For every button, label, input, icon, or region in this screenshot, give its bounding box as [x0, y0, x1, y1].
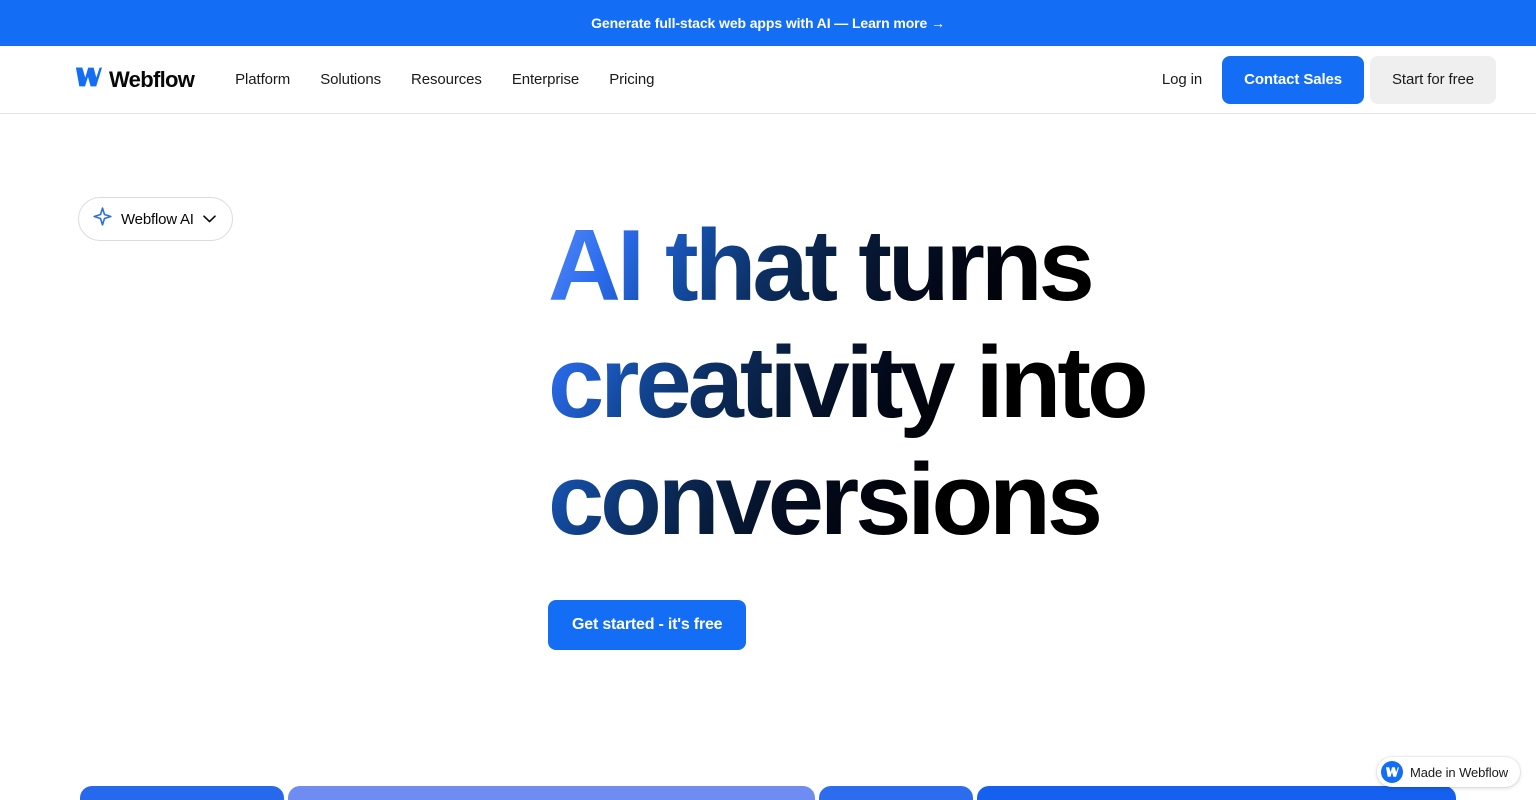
hero-headline-line-3: conversions: [548, 442, 1288, 559]
webflow-w-logo-icon: [76, 67, 102, 92]
nav-item-enterprise[interactable]: Enterprise: [497, 63, 594, 96]
contact-sales-button[interactable]: Contact Sales: [1222, 56, 1364, 104]
announcement-banner[interactable]: Generate full-stack web apps with AI — L…: [0, 0, 1536, 46]
header-actions: Log in Contact Sales Start for free: [1142, 56, 1496, 104]
webflow-circle-icon: [1381, 761, 1403, 783]
hero-headline-line-1: AI that turns: [548, 208, 1288, 325]
nav-link-pricing[interactable]: Pricing: [594, 63, 669, 96]
hero-headline: AI that turns creativity into conversion…: [548, 208, 1288, 559]
hero-section: Webflow AI AI that turns creativity into…: [0, 114, 1536, 800]
feature-card[interactable]: [977, 786, 1456, 800]
chevron-down-icon: [203, 210, 216, 228]
made-in-webflow-badge[interactable]: Made in Webflow: [1377, 757, 1520, 787]
webflow-ai-dropdown[interactable]: Webflow AI: [78, 197, 233, 241]
get-started-button[interactable]: Get started - it's free: [548, 600, 746, 650]
webflow-ai-label: Webflow AI: [121, 211, 194, 228]
nav-item-resources[interactable]: Resources: [396, 63, 497, 96]
hero-copy: AI that turns creativity into conversion…: [548, 208, 1288, 559]
nav-link-platform[interactable]: Platform: [220, 63, 305, 96]
hero-headline-line-2: creativity into: [548, 325, 1288, 442]
site-header: Webflow Platform Solutions Resources Ent…: [0, 46, 1536, 114]
sparkle-icon: [93, 207, 112, 231]
nav-item-pricing[interactable]: Pricing: [594, 63, 669, 96]
announcement-banner-text: Generate full-stack web apps with AI — L…: [591, 15, 945, 31]
feature-card[interactable]: [80, 786, 284, 800]
feature-card[interactable]: [819, 786, 973, 800]
made-in-webflow-label: Made in Webflow: [1410, 765, 1508, 780]
webflow-wordmark: Webflow: [109, 69, 194, 91]
nav-link-enterprise[interactable]: Enterprise: [497, 63, 594, 96]
feature-card[interactable]: [288, 786, 815, 800]
nav-link-solutions[interactable]: Solutions: [305, 63, 396, 96]
primary-nav: Platform Solutions Resources Enterprise …: [220, 63, 669, 96]
nav-item-solutions[interactable]: Solutions: [305, 63, 396, 96]
feature-card-strip: [80, 786, 1456, 800]
start-for-free-button[interactable]: Start for free: [1370, 56, 1496, 104]
nav-item-platform[interactable]: Platform: [220, 63, 305, 96]
log-in-link[interactable]: Log in: [1142, 61, 1222, 98]
nav-link-resources[interactable]: Resources: [396, 63, 497, 96]
webflow-logo-link[interactable]: Webflow: [76, 67, 194, 92]
